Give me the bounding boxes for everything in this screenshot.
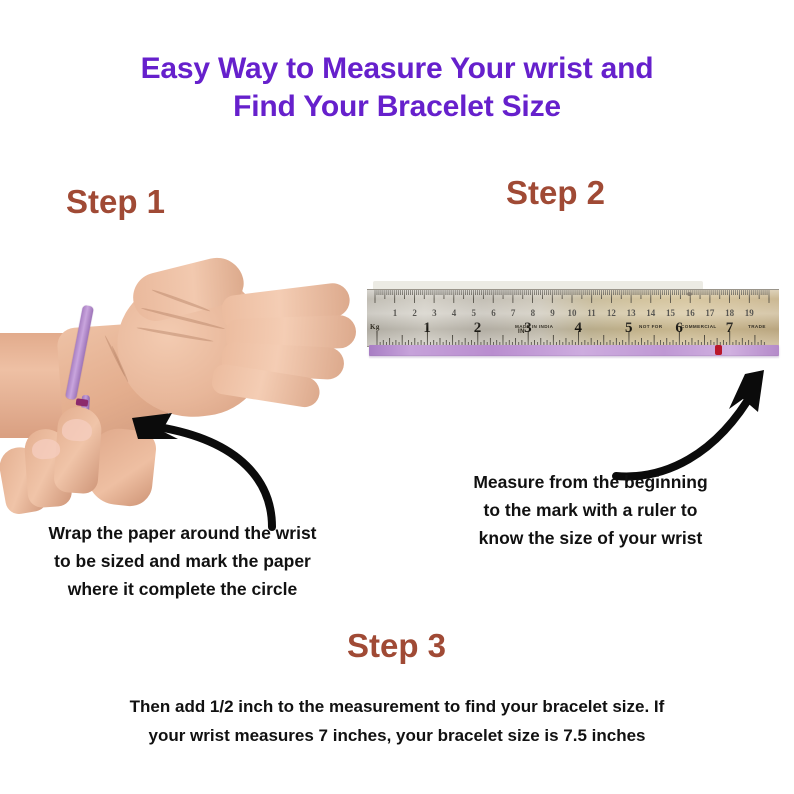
- paper-strip-pen-mark: [76, 398, 89, 407]
- step-2-caption-line-3: know the size of your wrist: [413, 524, 768, 552]
- step-1-caption-line-1: Wrap the paper around the wrist: [0, 519, 365, 547]
- ruler-cm-tick-marks: [367, 290, 779, 309]
- ruler-cm-number: 14: [646, 309, 655, 318]
- ruler-stamp-left-mark: Kg: [370, 323, 380, 331]
- step-1-curved-arrow-icon: [122, 405, 322, 530]
- ruler-cm-number: 15: [666, 309, 675, 318]
- step-1-caption: Wrap the paper around the wrist to be si…: [0, 519, 365, 603]
- ruler-cm-number: 6: [491, 309, 496, 318]
- ruler-inch-number: 7: [726, 321, 734, 336]
- fingernail: [31, 438, 60, 460]
- ruler-cm-number: 19: [745, 309, 754, 318]
- ruler-stamp-not-for: NOT FOR: [639, 324, 662, 329]
- step-3-caption: Then add 1/2 inch to the measurement to …: [57, 692, 737, 750]
- ruler-cm-number: 8: [531, 309, 536, 318]
- ruler-inch-number: 4: [575, 321, 583, 336]
- page-title-line-2: Find Your Bracelet Size: [0, 88, 794, 126]
- ruler-stamp-commercial: COMMERCIAL: [681, 324, 717, 329]
- step-1-caption-line-2: to be sized and mark the paper: [0, 547, 365, 575]
- ruler-cm-number: 7: [511, 309, 516, 318]
- metal-ruler-body: 12345678910111213141516171819 1234567 MA…: [367, 289, 779, 347]
- ruler-cm-number: 17: [705, 309, 714, 318]
- ruler-cm-number: 5: [472, 309, 477, 318]
- step-2-curved-arrow-icon: [612, 368, 787, 483]
- red-measurement-mark: [715, 345, 722, 355]
- ruler-stamp-inch-label: IN: [518, 329, 525, 335]
- infographic-page: Easy Way to Measure Your wrist and Find …: [0, 0, 794, 794]
- page-title-line-1: Easy Way to Measure Your wrist and: [0, 50, 794, 88]
- step-3-caption-line-1: Then add 1/2 inch to the measurement to …: [57, 692, 737, 721]
- ruler-cm-number: 11: [587, 309, 596, 318]
- page-title: Easy Way to Measure Your wrist and Find …: [0, 50, 794, 126]
- step-2-heading: Step 2: [506, 174, 605, 212]
- step-3-heading: Step 3: [347, 627, 446, 665]
- ruler-cm-number: 12: [607, 309, 616, 318]
- ruler-cm-number: 4: [452, 309, 457, 318]
- step-1-caption-line-3: where it complete the circle: [0, 575, 365, 603]
- ruler-cm-number: 9: [550, 309, 555, 318]
- step-1-heading: Step 1: [66, 183, 165, 221]
- ruler-cm-number: 1: [393, 309, 398, 318]
- ruler-cm-number: 16: [686, 309, 695, 318]
- paper-strip-shadow: [369, 355, 779, 359]
- ruler-photo: 12345678910111213141516171819 1234567 MA…: [367, 281, 779, 363]
- ruler-surface-speck: [687, 292, 692, 296]
- ruler-cm-number: 3: [432, 309, 437, 318]
- step-2-caption: Measure from the beginning to the mark w…: [413, 468, 768, 552]
- ruler-cm-number: 13: [627, 309, 636, 318]
- ruler-inch-number: 5: [625, 321, 633, 336]
- step-2-caption-line-1: Measure from the beginning: [413, 468, 768, 496]
- step-2-caption-line-2: to the mark with a ruler to: [413, 496, 768, 524]
- ruler-stamp-trade: TRADE: [748, 324, 766, 329]
- ruler-cm-number: 10: [568, 309, 577, 318]
- ruler-inch-number: 2: [474, 321, 482, 336]
- ruler-cm-number: 18: [725, 309, 734, 318]
- step-3-caption-line-2: your wrist measures 7 inches, your brace…: [57, 721, 737, 750]
- ruler-inch-number: 1: [423, 321, 431, 336]
- ruler-cm-number: 2: [412, 309, 417, 318]
